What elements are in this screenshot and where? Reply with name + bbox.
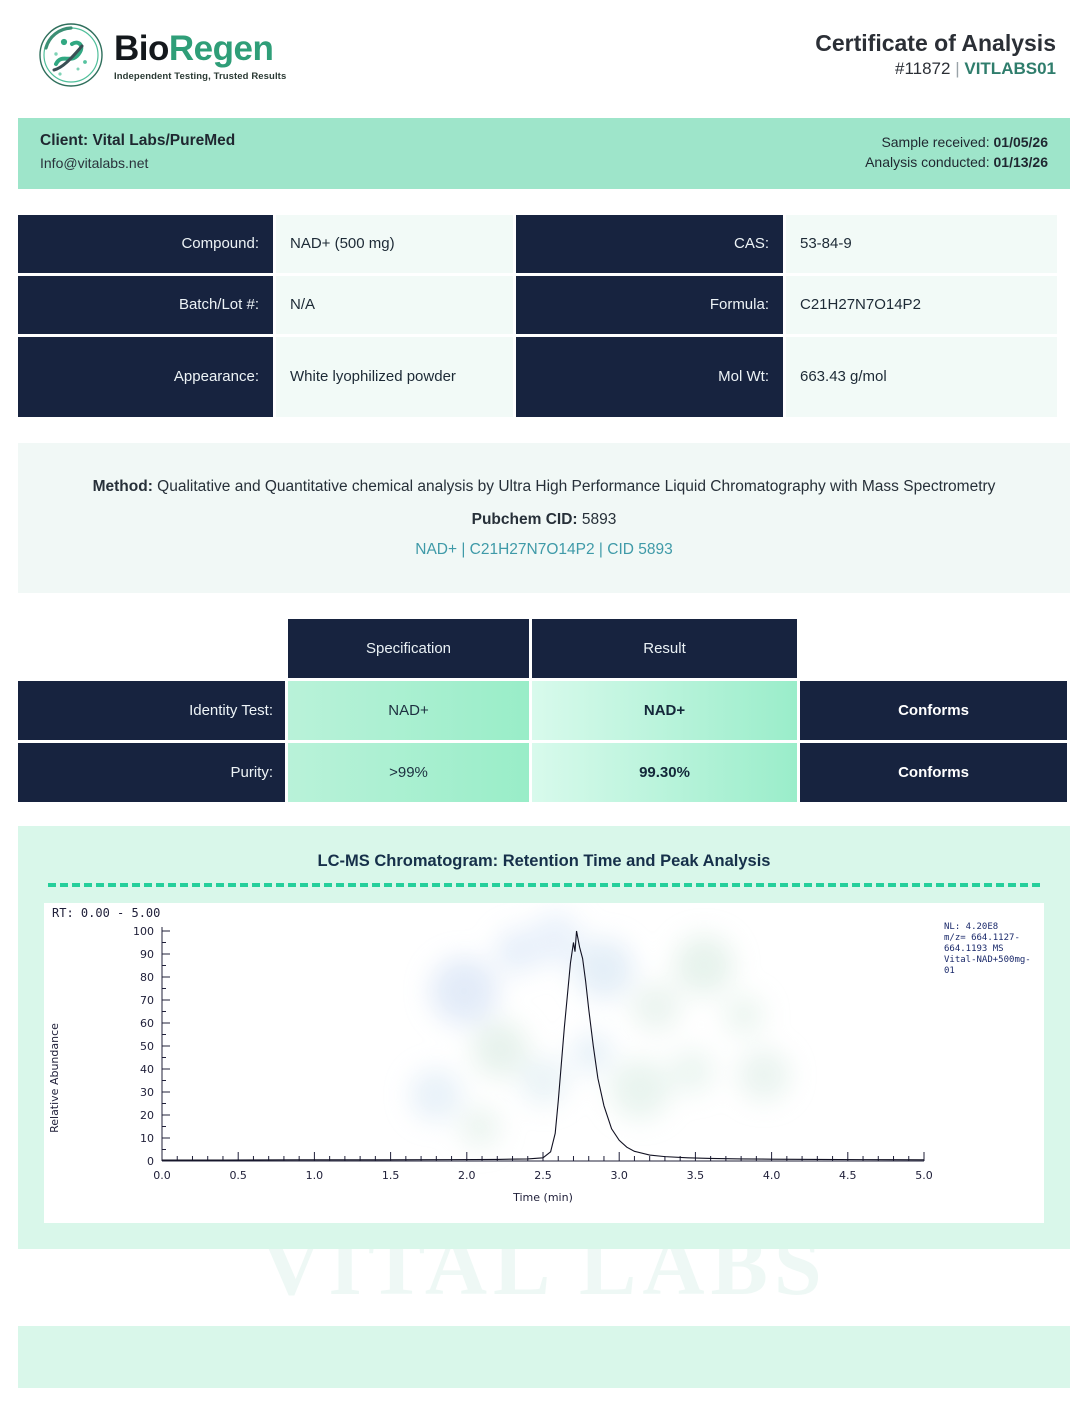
table-row: Identity Test: NAD+ NAD+ Conforms	[18, 681, 1070, 740]
svg-text:0.5: 0.5	[229, 1169, 247, 1182]
svg-text:Vital-NAD+500mg-: Vital-NAD+500mg-	[944, 955, 1031, 965]
chromatogram-y-axis: 0102030405060708090100	[133, 925, 170, 1168]
brand-name-part1: Bio	[114, 29, 169, 68]
method-label: Method:	[93, 478, 153, 495]
svg-text:40: 40	[140, 1063, 154, 1076]
brand-name-part2: Regen	[169, 29, 273, 68]
identity-test-result: NAD+	[532, 681, 797, 740]
coa-lab-code: VITLABS01	[964, 59, 1056, 78]
compound-info-table: Compound: NAD+ (500 mg) CAS: 53-84-9 Bat…	[18, 215, 1070, 417]
svg-text:50: 50	[140, 1040, 154, 1053]
appearance-value: White lyophilized powder	[276, 337, 513, 417]
results-header-spacer-left	[18, 619, 285, 678]
batch-value: N/A	[276, 276, 513, 334]
client-banner: Client: Vital Labs/PureMed Info@vitalabs…	[18, 118, 1070, 189]
client-email: Info@vitalabs.net	[40, 155, 235, 171]
pubchem-cid-value: 5893	[582, 511, 616, 528]
svg-text:20: 20	[140, 1109, 154, 1122]
pubchem-cid-label: Pubchem CID:	[472, 511, 578, 528]
method-description: Method: Qualitative and Quantitative che…	[78, 475, 1010, 499]
svg-text:NL: 4.20E8: NL: 4.20E8	[944, 922, 998, 932]
chromatogram-divider	[48, 883, 1040, 887]
svg-text:4.0: 4.0	[763, 1169, 781, 1182]
results-header-spacer-right	[800, 619, 1067, 678]
coa-separator: |	[955, 59, 959, 78]
svg-text:0.0: 0.0	[153, 1169, 171, 1182]
brand-name: BioRegen	[114, 31, 286, 66]
brand-wordmark: BioRegen Independent Testing, Trusted Re…	[114, 29, 286, 82]
chromatogram-peak-trace	[162, 931, 924, 1160]
identity-test-status-badge: Conforms	[800, 681, 1067, 740]
compound-label: Compound:	[18, 215, 273, 273]
svg-text:60: 60	[140, 1017, 154, 1030]
brand-tagline: Independent Testing, Trusted Results	[114, 71, 286, 82]
svg-text:3.5: 3.5	[687, 1169, 705, 1182]
svg-text:30: 30	[140, 1086, 154, 1099]
client-info: Client: Vital Labs/PureMed Info@vitalabs…	[40, 132, 235, 171]
svg-text:90: 90	[140, 948, 154, 961]
compound-value: NAD+ (500 mg)	[276, 215, 513, 273]
batch-label: Batch/Lot #:	[18, 276, 273, 334]
svg-text:2.5: 2.5	[534, 1169, 552, 1182]
cas-value: 53-84-9	[786, 215, 1057, 273]
table-row: Purity: >99% 99.30% Conforms	[18, 743, 1070, 802]
analysis-conducted-label: Analysis conducted:	[865, 154, 990, 170]
chromatogram-y-axis-label: Relative Abundance	[48, 1022, 61, 1132]
analysis-conducted-row: Analysis conducted: 01/13/26	[865, 152, 1048, 172]
method-panel: Method: Qualitative and Quantitative che…	[18, 443, 1070, 593]
svg-text:3.0: 3.0	[610, 1169, 628, 1182]
appearance-label: Appearance:	[18, 337, 273, 417]
cas-label: CAS:	[516, 215, 783, 273]
page-header: BioRegen Independent Testing, Trusted Re…	[0, 0, 1088, 96]
sample-received-value: 01/05/26	[994, 134, 1049, 150]
results-header-row: Specification Result	[18, 619, 1070, 678]
chromatogram-panel: LC-MS Chromatogram: Retention Time and P…	[18, 826, 1070, 1249]
svg-text:m/z= 664.1127-: m/z= 664.1127-	[944, 933, 1020, 943]
footer-panel	[18, 1326, 1070, 1388]
coa-reference: #11872 | VITLABS01	[815, 59, 1056, 79]
sample-received-row: Sample received: 01/05/26	[865, 132, 1048, 152]
chromatogram-title: LC-MS Chromatogram: Retention Time and P…	[44, 844, 1044, 883]
column-header-specification: Specification	[288, 619, 529, 678]
purity-label: Purity:	[18, 743, 285, 802]
brand-logo: BioRegen Independent Testing, Trusted Re…	[38, 22, 286, 88]
svg-text:80: 80	[140, 971, 154, 984]
svg-text:4.5: 4.5	[839, 1169, 857, 1182]
svg-text:01: 01	[944, 966, 955, 976]
sample-received-label: Sample received:	[881, 134, 989, 150]
chromatogram-x-axis: 0.00.51.01.52.02.53.03.54.04.55.0	[153, 1152, 933, 1182]
coa-number: #11872	[895, 59, 950, 78]
chromatogram-x-axis-label: Time (min)	[512, 1191, 573, 1204]
formula-value: C21H27N7O14P2	[786, 276, 1057, 334]
column-header-result: Result	[532, 619, 797, 678]
svg-text:2.0: 2.0	[458, 1169, 476, 1182]
bioregen-emblem-icon	[38, 22, 104, 88]
page-title: Certificate of Analysis	[815, 30, 1056, 56]
molwt-value: 663.43 g/mol	[786, 337, 1057, 417]
identity-test-specification: NAD+	[288, 681, 529, 740]
svg-text:0: 0	[147, 1155, 154, 1168]
svg-text:10: 10	[140, 1132, 154, 1145]
svg-text:70: 70	[140, 994, 154, 1007]
analysis-dates: Sample received: 01/05/26 Analysis condu…	[865, 132, 1048, 173]
pubchem-cid-row: Pubchem CID: 5893	[78, 511, 1010, 529]
svg-text:1.0: 1.0	[306, 1169, 324, 1182]
pubchem-link[interactable]: NAD+ | C21H27N7O14P2 | CID 5893	[78, 541, 1010, 559]
molecule-watermark-decoration	[410, 913, 790, 1147]
purity-result: 99.30%	[532, 743, 797, 802]
svg-text:1.5: 1.5	[382, 1169, 400, 1182]
purity-specification: >99%	[288, 743, 529, 802]
results-table: Specification Result Identity Test: NAD+…	[18, 619, 1070, 802]
molwt-label: Mol Wt:	[516, 337, 783, 417]
chromatogram-rt-label: RT: 0.00 - 5.00	[52, 906, 160, 920]
svg-text:100: 100	[133, 925, 154, 938]
chromatogram-plot: RT: 0.00 - 5.00 NL: 4.20E8m/z= 664.1127-…	[44, 903, 1044, 1223]
svg-text:664.1193 MS: 664.1193 MS	[944, 944, 1004, 954]
coa-identity: Certificate of Analysis #11872 | VITLABS…	[815, 22, 1056, 79]
analysis-conducted-value: 01/13/26	[994, 154, 1049, 170]
identity-test-label: Identity Test:	[18, 681, 285, 740]
method-text: Qualitative and Quantitative chemical an…	[157, 478, 995, 495]
client-name: Client: Vital Labs/PureMed	[40, 132, 235, 150]
purity-status-badge: Conforms	[800, 743, 1067, 802]
chromatogram-annotation: NL: 4.20E8m/z= 664.1127-664.1193 MSVital…	[944, 922, 1031, 976]
svg-text:5.0: 5.0	[915, 1169, 933, 1182]
formula-label: Formula:	[516, 276, 783, 334]
